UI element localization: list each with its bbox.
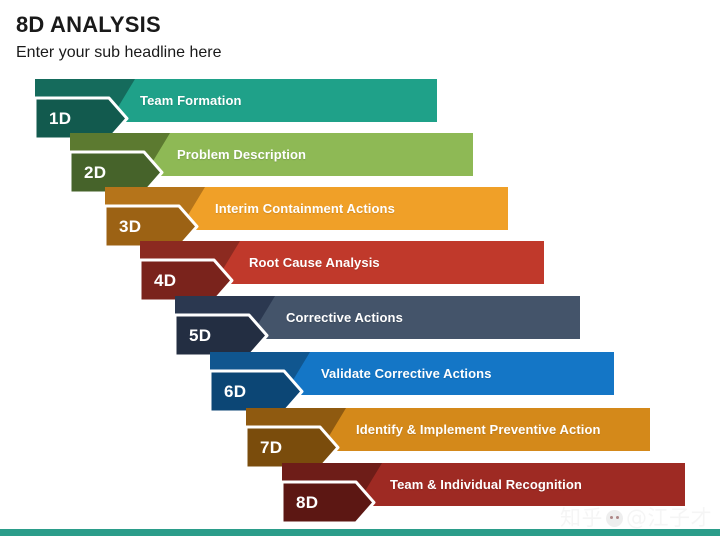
step-label: Identify & Implement Preventive Action — [356, 423, 601, 437]
step-badge-label: 4D — [154, 272, 176, 290]
step-label: Interim Containment Actions — [215, 202, 395, 216]
step-badge-label: 1D — [49, 110, 71, 128]
step-badge-label: 8D — [296, 494, 318, 512]
step-label: Root Cause Analysis — [249, 256, 380, 270]
step-label: Corrective Actions — [286, 311, 403, 325]
step-badge-label: 5D — [189, 327, 211, 345]
step-shape — [280, 461, 691, 529]
eight-d-staircase-diagram: 1DTeam Formation2DProblem Description3DI… — [0, 0, 720, 540]
slide-canvas: 8D ANALYSIS Enter your sub headline here… — [0, 0, 720, 540]
step-label: Validate Corrective Actions — [321, 367, 492, 381]
step-badge-label: 6D — [224, 383, 246, 401]
step-label: Problem Description — [177, 148, 306, 162]
step-label: Team Formation — [140, 94, 242, 108]
step-label: Team & Individual Recognition — [390, 478, 582, 492]
step-badge-label: 2D — [84, 164, 106, 182]
step-row[interactable]: 8DTeam & Individual Recognition — [280, 461, 691, 529]
footer-accent-bar — [0, 529, 720, 536]
step-badge-label: 3D — [119, 218, 141, 236]
step-badge-label: 7D — [260, 439, 282, 457]
